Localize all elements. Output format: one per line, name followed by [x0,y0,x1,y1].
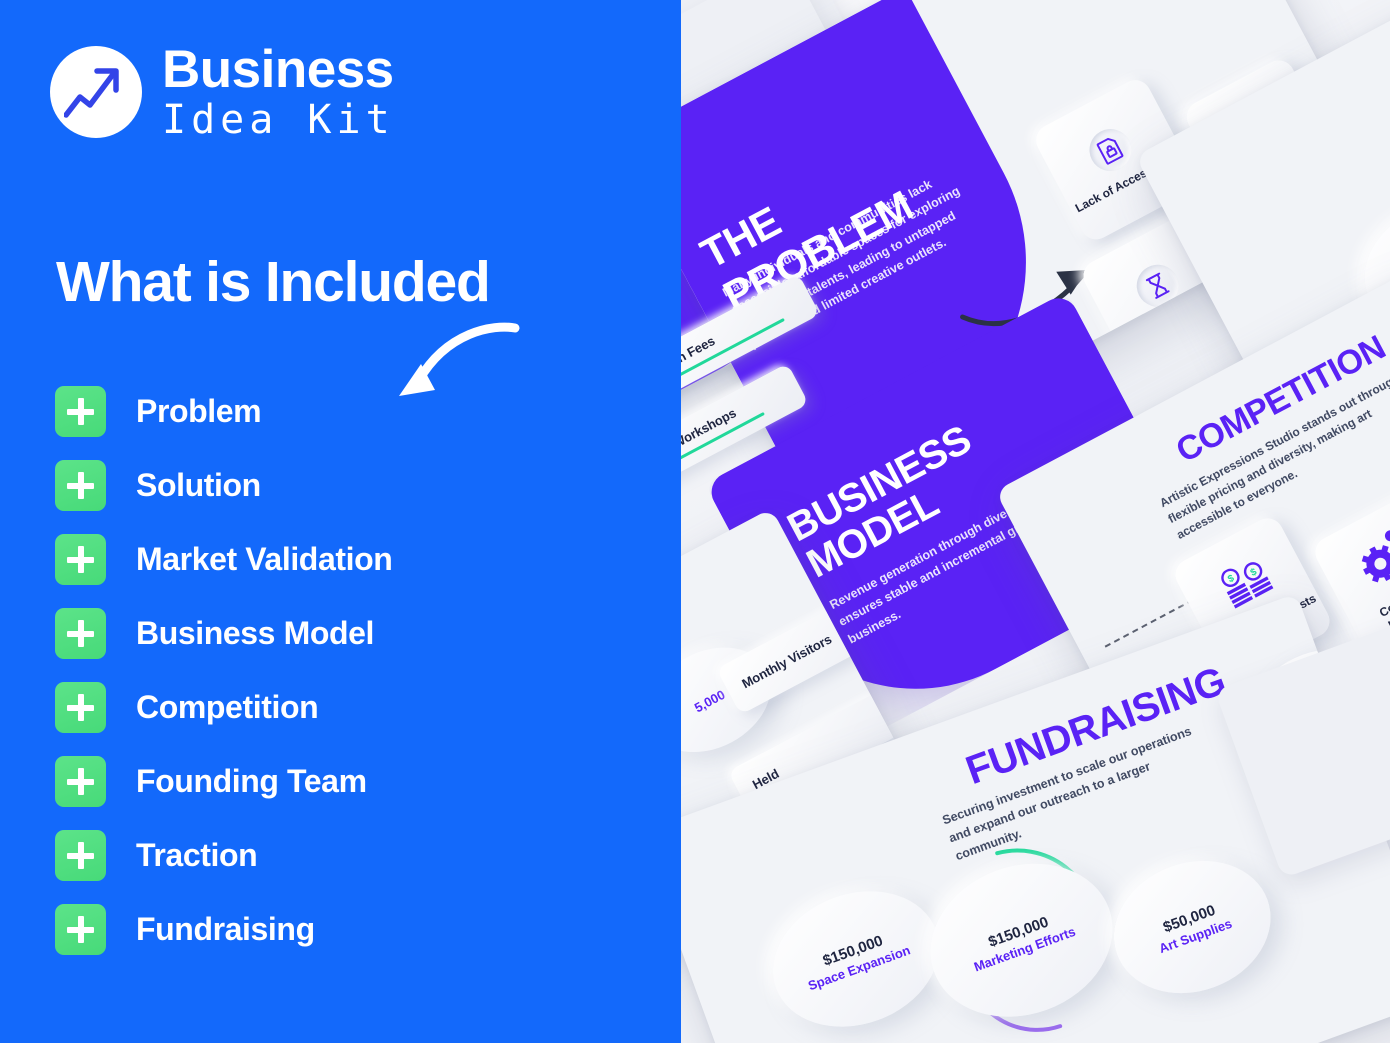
list-item[interactable]: Business Model [55,608,392,659]
traction-metric-value: 5,000 [692,686,728,715]
included-list: Problem Solution Market Validation Busin… [55,386,392,955]
list-item[interactable]: Competition [55,682,392,733]
hourglass-icon [1129,257,1186,314]
brand-title: Business [162,43,395,96]
plus-icon [55,608,106,659]
plus-icon [55,386,106,437]
list-item-label: Founding Team [136,763,367,800]
list-item[interactable]: Market Validation [55,534,392,585]
plus-icon [55,682,106,733]
growth-chart-arrow-icon [64,63,128,121]
list-item-label: Problem [136,393,261,430]
plus-icon [55,830,106,881]
list-item-label: Competition [136,689,318,726]
plus-icon [55,904,106,955]
list-item-label: Market Validation [136,541,392,578]
brand-text: Business Idea Kit [162,43,395,140]
list-item-label: Solution [136,467,261,504]
plus-icon [55,534,106,585]
poster-root: Business Idea Kit What is Included Probl… [0,0,1390,1043]
lock-document-icon [1082,122,1139,179]
list-item-label: Traction [136,837,257,874]
plus-icon [55,460,106,511]
list-item-label: Fundraising [136,911,315,948]
plus-icon [55,756,106,807]
logo-mark [50,46,142,138]
list-item-label: Business Model [136,615,374,652]
list-item[interactable]: Solution [55,460,392,511]
list-item[interactable]: Traction [55,830,392,881]
list-item[interactable]: Fundraising [55,904,392,955]
gears-icon [1349,522,1390,600]
page-title: What is Included [56,249,490,315]
brand-subtitle: Idea Kit [162,100,395,140]
slides-showcase: THE PROBLEM Many individuals and communi… [681,0,1390,1043]
left-panel: Business Idea Kit What is Included Probl… [0,0,681,1043]
curved-down-left-arrow-icon [385,318,520,408]
brand-lockup: Business Idea Kit [50,43,395,140]
list-item[interactable]: Problem [55,386,392,437]
list-item[interactable]: Founding Team [55,756,392,807]
